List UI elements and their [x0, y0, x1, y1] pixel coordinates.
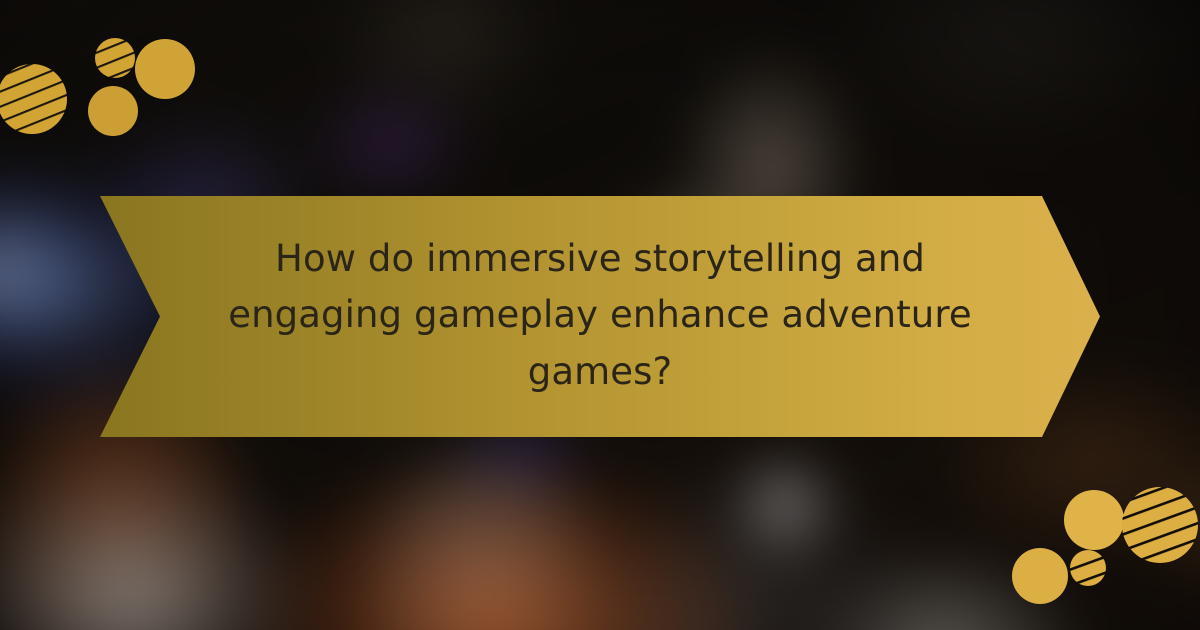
headline-text: How do immersive storytelling and engagi…: [220, 231, 980, 402]
headline-banner: How do immersive storytelling and engagi…: [100, 196, 1100, 437]
social-card: How do immersive storytelling and engagi…: [0, 0, 1200, 630]
